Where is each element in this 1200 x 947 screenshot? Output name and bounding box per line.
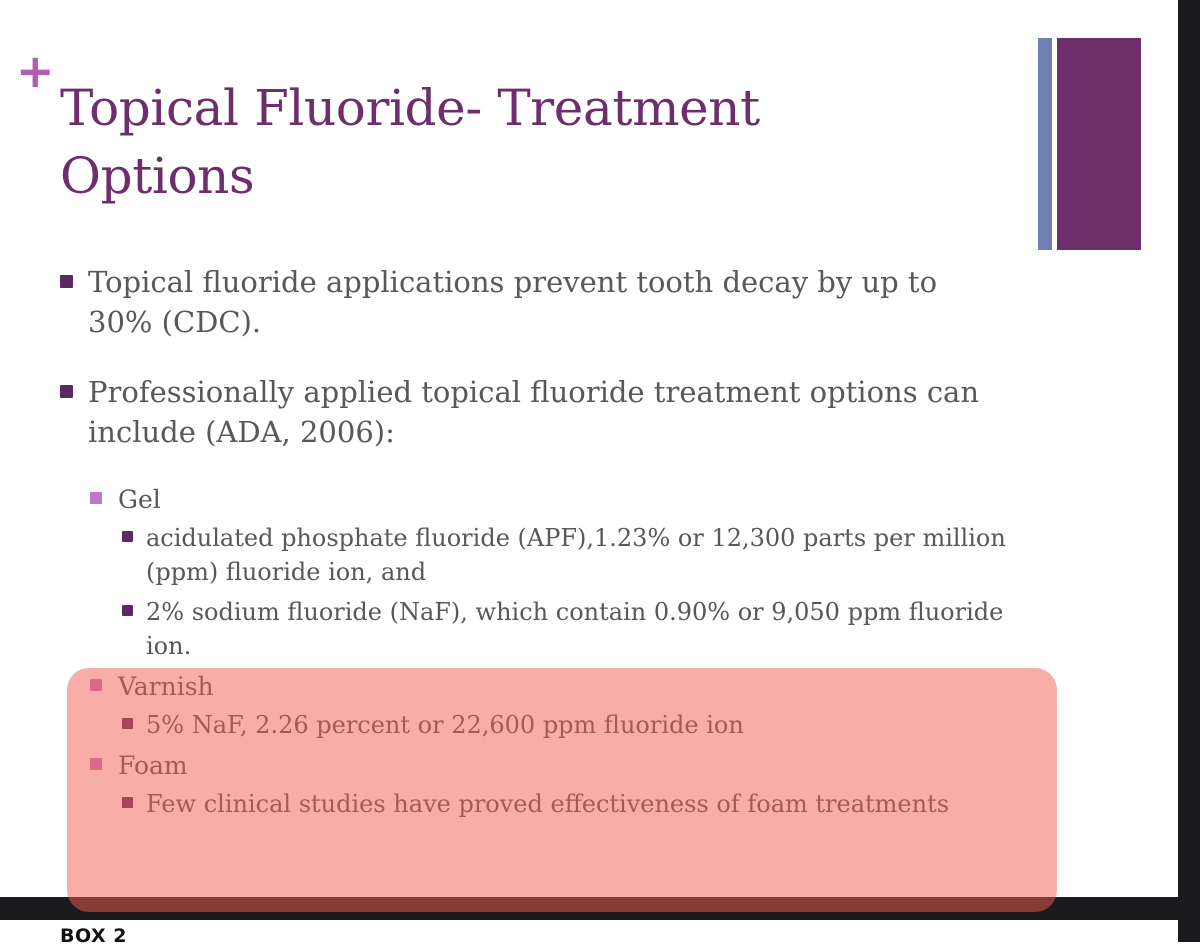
bullet-list: Topical fluoride applications prevent to… (0, 262, 1178, 828)
list-item-text: Few clinical studies have proved effecti… (146, 787, 1026, 821)
list-item: Gel (0, 482, 1178, 517)
list-item: 2% sodium fluoride (NaF), which contain … (0, 595, 1178, 663)
list-item-text: Professionally applied topical fluoride … (88, 372, 1008, 452)
list-item: Few clinical studies have proved effecti… (0, 787, 1178, 821)
plus-icon: + (16, 48, 55, 94)
slide-title: Topical Fluoride- Treatment Options (60, 74, 960, 210)
page-root: + Topical Fluoride- Treatment Options To… (0, 0, 1200, 942)
bullet-square-icon (122, 605, 133, 616)
list-item-text: 2% sodium fluoride (NaF), which contain … (146, 595, 1026, 663)
bullet-square-icon (60, 385, 73, 398)
bullet-square-icon (122, 531, 133, 542)
page-right-gutter (1178, 0, 1200, 942)
list-item-text: Gel (118, 482, 1018, 517)
list-item: Varnish (0, 669, 1178, 704)
list-item-text: Topical fluoride applications prevent to… (88, 262, 1008, 342)
list-item-text: 5% NaF, 2.26 percent or 22,600 ppm fluor… (146, 708, 1026, 742)
list-item: Topical fluoride applications prevent to… (0, 262, 1178, 342)
bullet-square-icon (122, 797, 133, 808)
list-item-text: Foam (118, 748, 1018, 783)
list-item-text: Varnish (118, 669, 1018, 704)
list-item: Foam (0, 748, 1178, 783)
list-item-text: acidulated phosphate fluoride (APF),1.23… (146, 521, 1026, 589)
bullet-square-icon (60, 275, 73, 288)
list-item: 5% NaF, 2.26 percent or 22,600 ppm fluor… (0, 708, 1178, 742)
slide-canvas: + Topical Fluoride- Treatment Options To… (0, 0, 1178, 897)
list-item: acidulated phosphate fluoride (APF),1.23… (0, 521, 1178, 589)
bullet-square-icon (90, 492, 102, 504)
bullet-square-icon (90, 679, 102, 691)
slide-bottom-bar (0, 897, 1178, 920)
decorative-purple-block (1057, 38, 1141, 250)
decorative-thin-bar (1038, 38, 1052, 250)
list-item: Professionally applied topical fluoride … (0, 372, 1178, 452)
figure-caption: BOX 2 (60, 925, 127, 947)
bullet-square-icon (122, 718, 133, 729)
bullet-square-icon (90, 758, 102, 770)
page-area-below-slide (0, 920, 1178, 942)
